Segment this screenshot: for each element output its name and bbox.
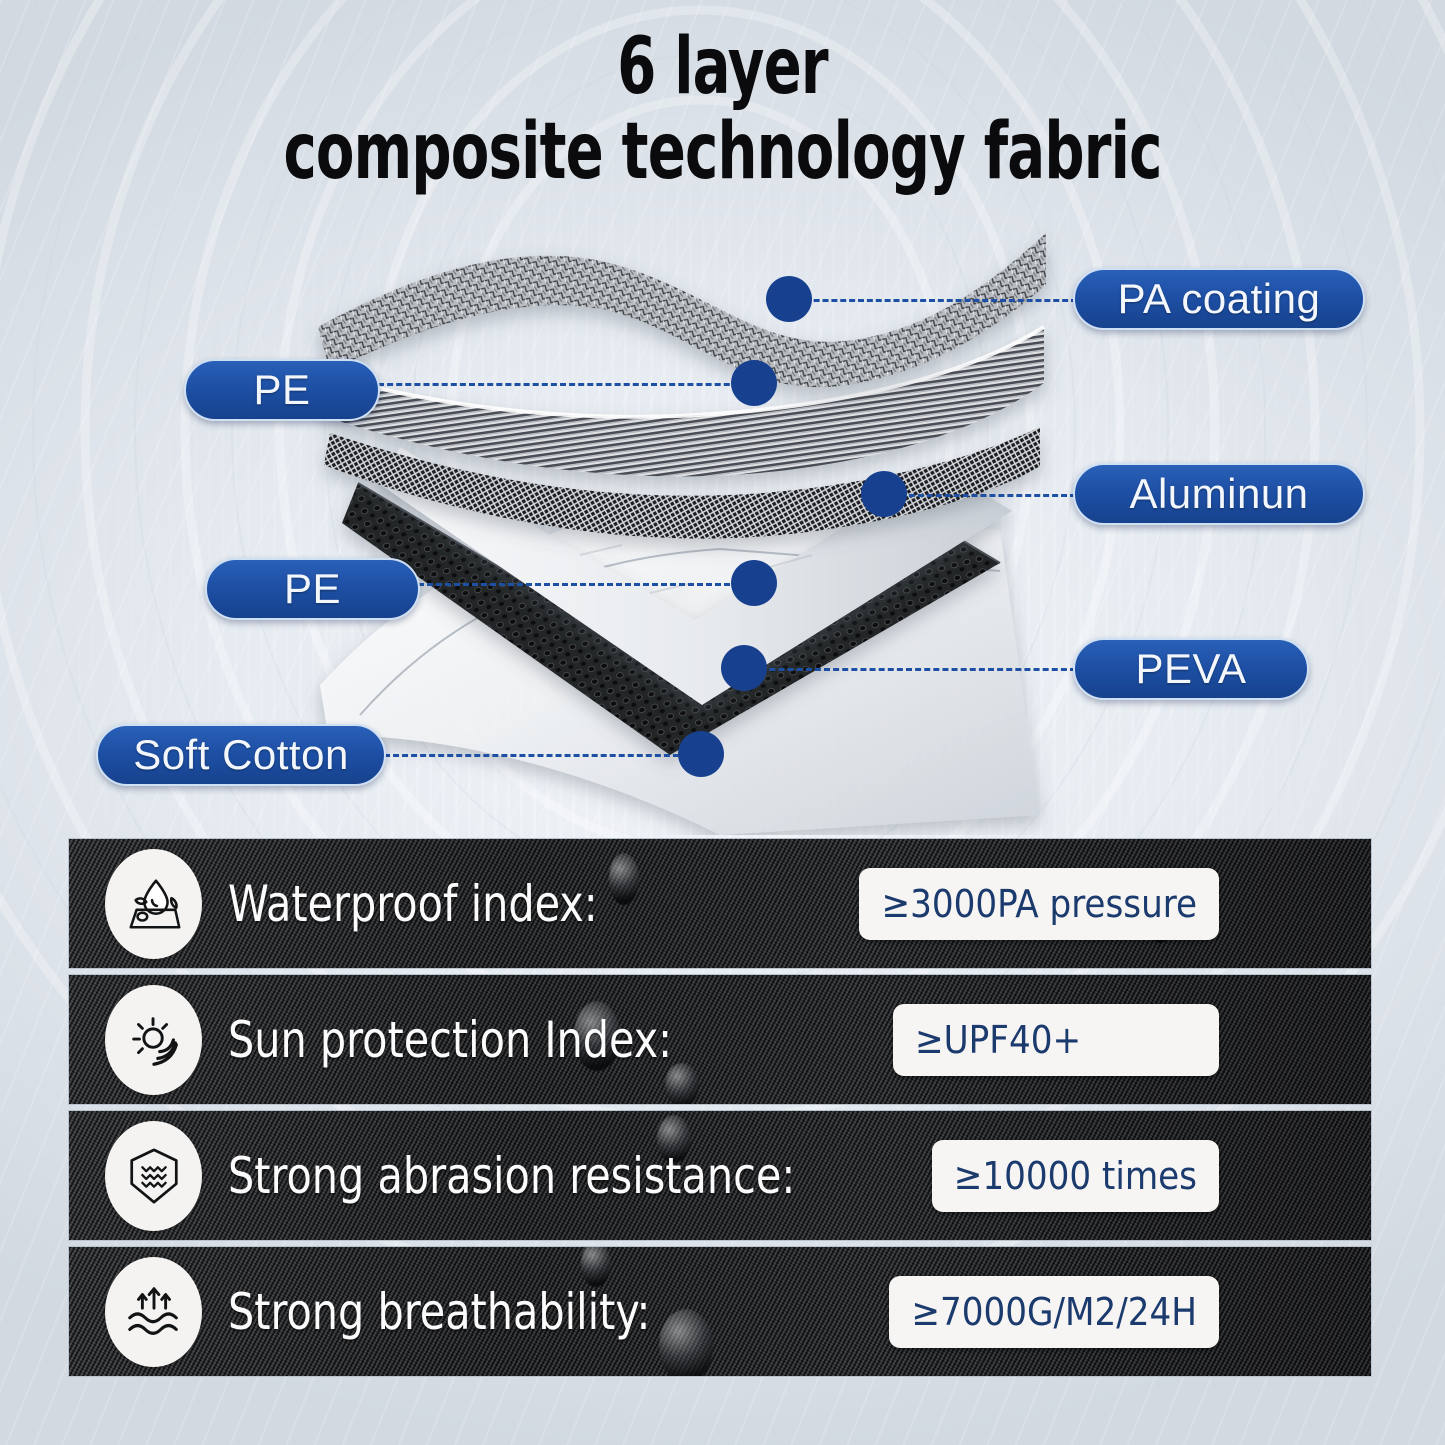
- title-line-1: 6 layer: [145, 24, 1301, 110]
- feature-row-breathability: Strong breathability: ≥7000G/M2/24H: [68, 1246, 1372, 1377]
- feature-label: Strong breathability:: [228, 1283, 650, 1341]
- feature-label: Sun protection Index:: [228, 1011, 672, 1069]
- leader-dot-pe-top: [731, 360, 777, 406]
- leader-line-pe-bottom: [418, 583, 748, 586]
- waterproof-icon: [105, 849, 202, 959]
- feature-value: ≥7000G/M2/24H: [889, 1276, 1219, 1348]
- layer-label-soft-cotton[interactable]: Soft Cotton: [96, 724, 386, 786]
- leader-dot-peva: [721, 645, 767, 691]
- layer-label-pa-coating[interactable]: PA coating: [1073, 268, 1365, 330]
- layer-label-pe-bottom[interactable]: PE: [205, 558, 420, 620]
- abrasion-shield-icon: [105, 1121, 202, 1231]
- feature-value: ≥UPF40+: [893, 1004, 1219, 1076]
- feature-row-waterproof: Waterproof index: ≥3000PA pressure: [68, 838, 1372, 969]
- leader-dot-pe-bottom: [731, 560, 777, 606]
- leader-line-peva: [742, 668, 1076, 671]
- layer-label-peva[interactable]: PEVA: [1073, 638, 1309, 700]
- leader-line-pa-coating: [787, 299, 1077, 302]
- leader-dot-aluminun: [861, 471, 907, 517]
- water-droplet: [665, 1063, 699, 1105]
- feature-label: Strong abrasion resistance:: [228, 1147, 795, 1205]
- water-droplet: [609, 853, 639, 905]
- feature-row-abrasion: Strong abrasion resistance: ≥10000 times: [68, 1110, 1372, 1241]
- feature-row-sun-protection: Sun protection Index: ≥UPF40+: [68, 974, 1372, 1105]
- feature-value: ≥10000 times: [932, 1140, 1219, 1212]
- breathability-icon: [105, 1257, 202, 1367]
- layer-pa-coating: [318, 233, 1046, 387]
- infographic-root: 6 layer composite technology fabric: [0, 0, 1445, 1445]
- leader-dot-soft-cotton: [678, 731, 724, 777]
- leader-dot-pa-coating: [766, 276, 812, 322]
- feature-list: Waterproof index: ≥3000PA pressure: [68, 838, 1372, 1382]
- page-title: 6 layer composite technology fabric: [0, 24, 1445, 194]
- layer-label-pe-top[interactable]: PE: [184, 359, 380, 421]
- feature-value: ≥3000PA pressure: [859, 868, 1219, 940]
- leader-line-soft-cotton: [384, 754, 706, 757]
- title-line-2: composite technology fabric: [145, 110, 1301, 194]
- water-droplet: [659, 1309, 713, 1377]
- leader-line-pe-top: [378, 383, 748, 386]
- sun-protection-icon: [105, 985, 202, 1095]
- leader-line-aluminun: [882, 494, 1076, 497]
- feature-label: Waterproof index:: [228, 875, 598, 933]
- layer-label-aluminun[interactable]: Aluminun: [1073, 463, 1365, 525]
